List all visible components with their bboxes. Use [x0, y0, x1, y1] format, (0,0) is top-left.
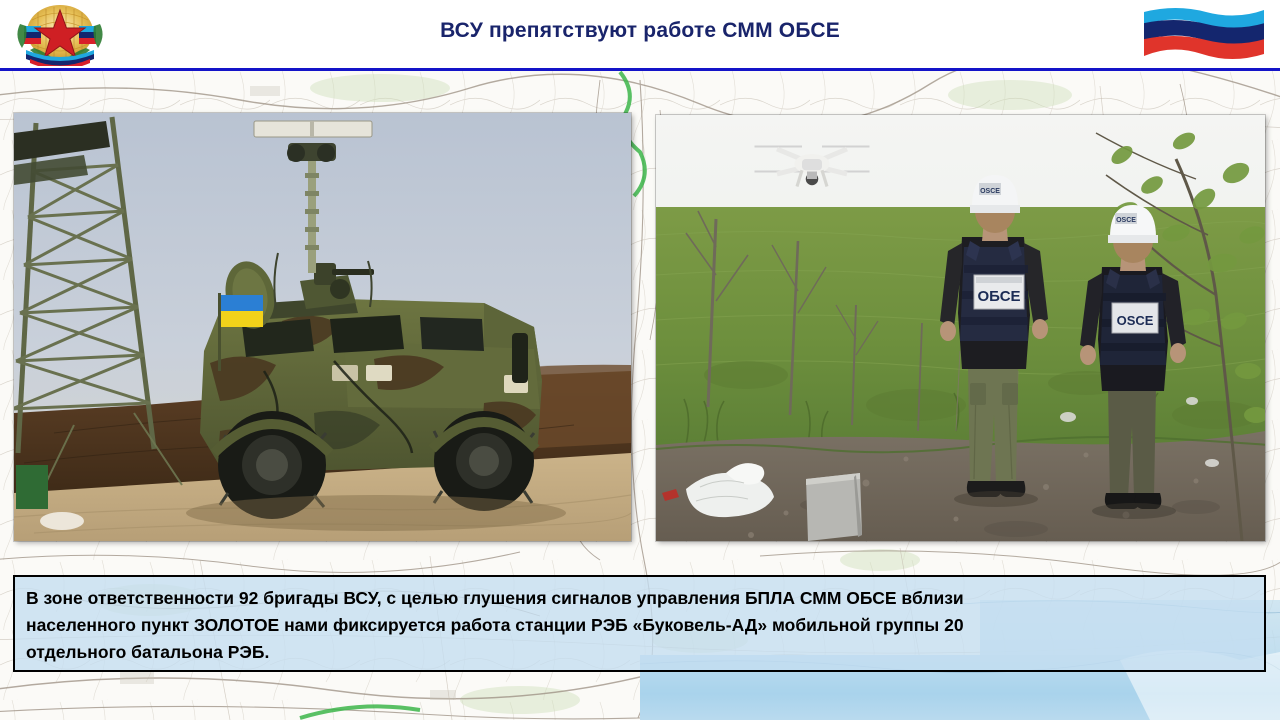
caption-line-1: В зоне ответственности 92 бригады ВСУ, с… [26, 585, 1253, 612]
photo-osce-monitors-drone: ОБСЕ OSCE [656, 115, 1265, 541]
presentation-slide: ВСУ препятствуют работе СММ ОБСЕ [0, 0, 1280, 720]
caption-line-3: отдельного батальона РЭБ. [26, 639, 1253, 666]
osce-helmet-label-right: OSCE [1116, 217, 1136, 224]
caption-line-2: населенного пункт ЗОЛОТОЕ нами фиксирует… [26, 612, 1253, 639]
photo-ukrainian-ew-vehicle [14, 113, 631, 541]
slide-header: ВСУ препятствуют работе СММ ОБСЕ [0, 0, 1280, 71]
osce-vest-label-latin: OSCE [1117, 313, 1154, 328]
lpr-flag-icon [1140, 4, 1268, 62]
osce-helmet-label-left: OSCE [980, 188, 1000, 195]
osce-vest-label-cyrillic: ОБСЕ [977, 288, 1020, 305]
page-title: ВСУ препятствуют работе СММ ОБСЕ [0, 19, 1280, 43]
grey-case [806, 473, 862, 541]
caption-box: В зоне ответственности 92 бригады ВСУ, с… [13, 575, 1266, 672]
